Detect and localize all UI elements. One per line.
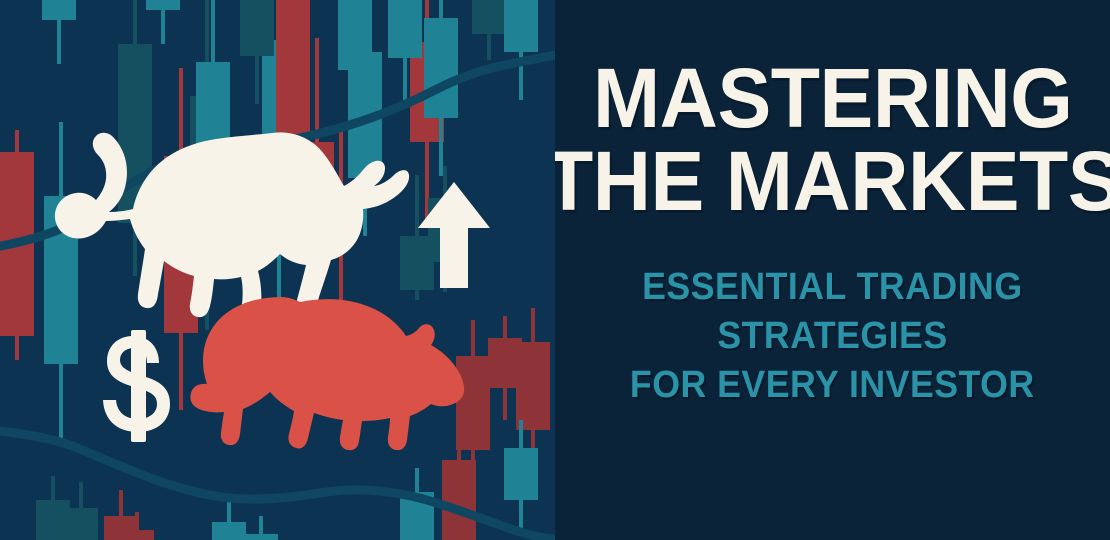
dollar-sign-icon xyxy=(103,330,173,442)
candlestick-body xyxy=(472,0,506,34)
bear-icon xyxy=(190,296,465,451)
candlestick-body xyxy=(442,460,476,540)
candlestick-body xyxy=(504,0,538,52)
candlestick xyxy=(0,130,34,360)
headline-block: MASTERING THE MARKETS ESSENTIAL TRADING … xyxy=(555,0,1110,540)
candlestick xyxy=(504,0,538,100)
candlestick-body xyxy=(388,0,422,58)
candlestick-body xyxy=(424,18,458,118)
candlestick-body xyxy=(240,0,274,56)
candlestick xyxy=(400,468,434,540)
candlestick-body xyxy=(212,522,246,540)
candlestick xyxy=(42,0,76,64)
candlestick-body xyxy=(42,0,76,20)
subtitle-line-3: FOR EVERY INVESTOR xyxy=(630,363,1035,408)
candlestick xyxy=(424,0,458,176)
candlestick-body xyxy=(400,492,434,540)
candlestick-body xyxy=(516,342,550,430)
candlestick xyxy=(146,0,180,44)
candlestick xyxy=(240,0,274,104)
candlestick-body xyxy=(64,508,98,540)
page-title-line-2: THE MARKETS xyxy=(555,141,1110,222)
subtitle-line-1: ESSENTIAL TRADING xyxy=(642,265,1022,310)
market-banner: MASTERING THE MARKETS ESSENTIAL TRADING … xyxy=(0,0,1110,540)
subtitle-line-2: STRATEGIES xyxy=(717,314,947,359)
candlestick xyxy=(212,498,246,540)
page-title-line-1: MASTERING xyxy=(593,58,1073,139)
candlestick-body xyxy=(244,534,278,540)
candlestick xyxy=(472,0,506,60)
candlestick xyxy=(244,516,278,540)
arrow-up-icon xyxy=(418,182,490,288)
candlestick-body xyxy=(146,0,180,10)
candlestick xyxy=(388,0,422,104)
candlestick xyxy=(504,420,538,528)
bull-icon xyxy=(40,128,410,318)
text-panel: MASTERING THE MARKETS ESSENTIAL TRADING … xyxy=(555,0,1110,540)
candlestick-body xyxy=(504,448,538,500)
candlestick-body xyxy=(120,530,154,540)
candlestick xyxy=(64,482,98,540)
candlestick xyxy=(120,512,154,540)
candlestick-body xyxy=(0,152,34,336)
illustration-panel xyxy=(0,0,555,540)
